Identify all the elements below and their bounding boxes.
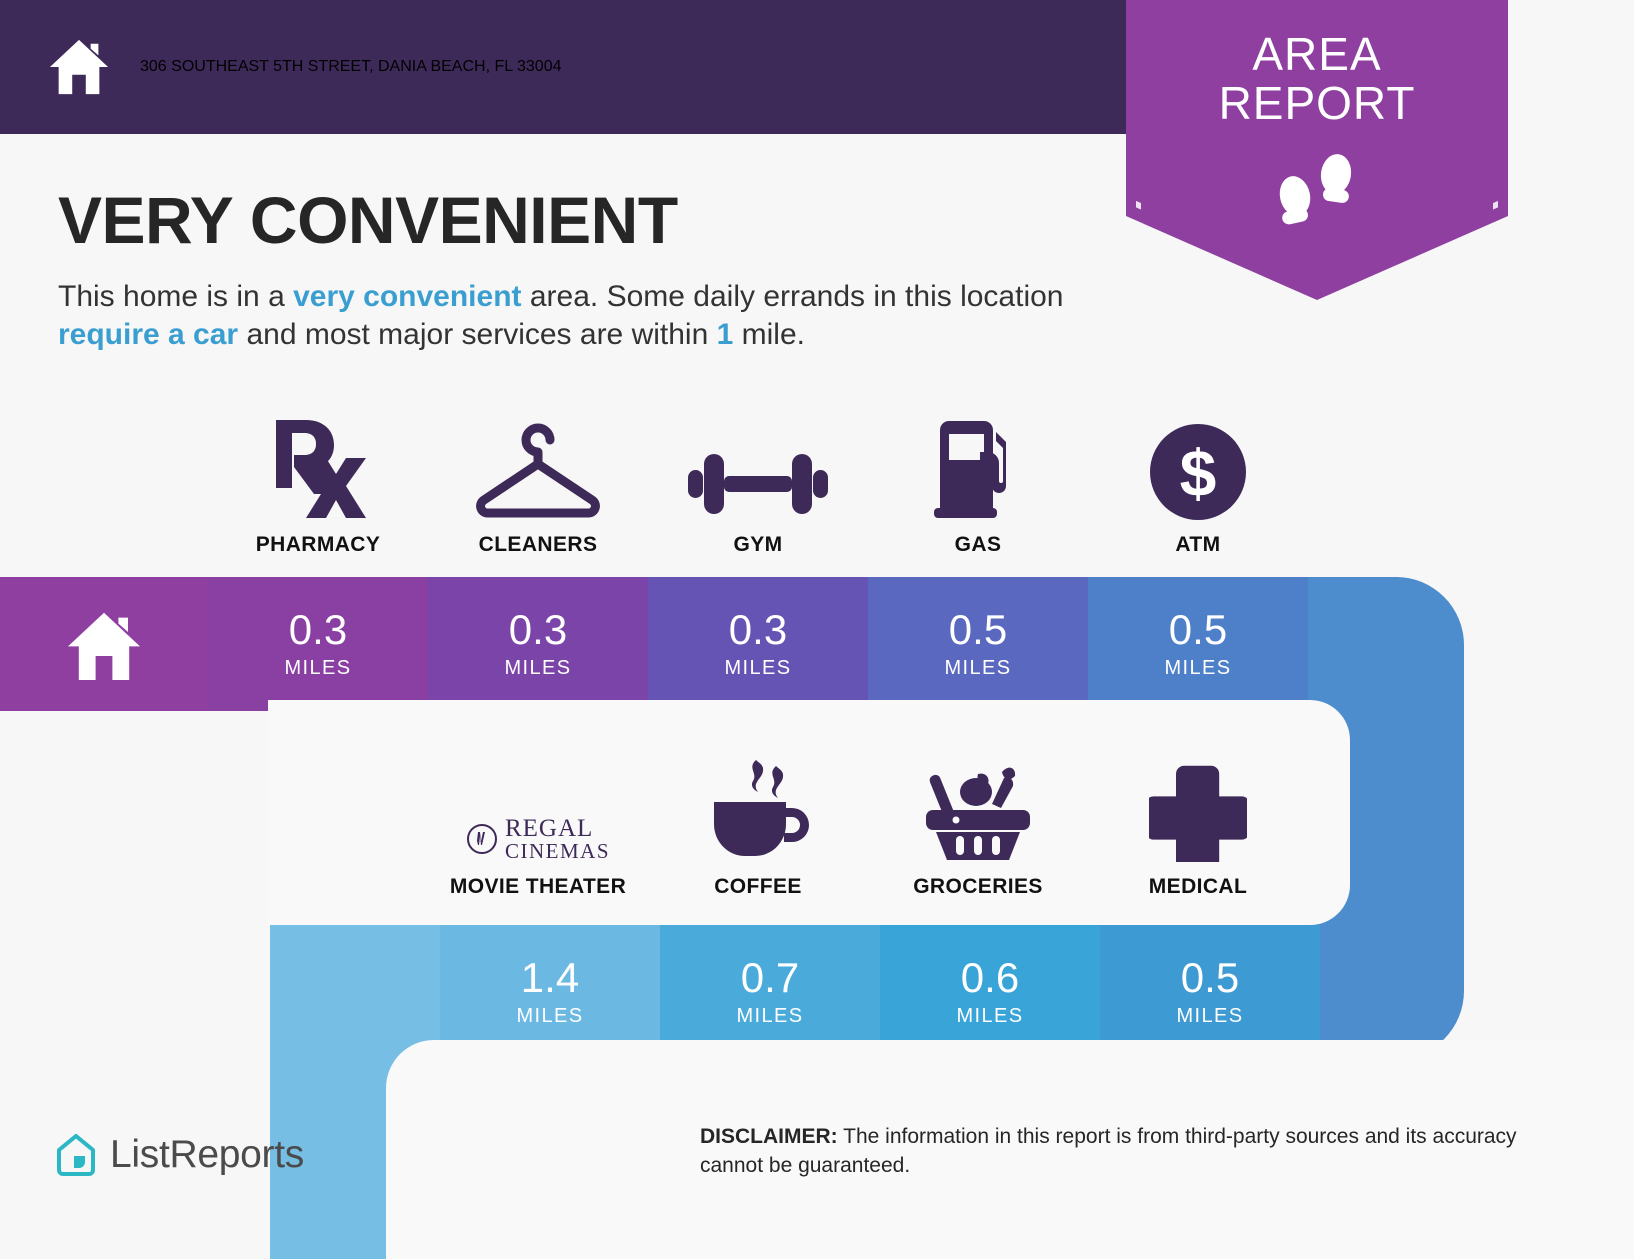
house-icon <box>48 36 110 98</box>
desc-part-4: mile. <box>733 318 805 351</box>
amenity-cleaners: CLEANERS <box>428 412 648 557</box>
disclaimer-label: DISCLAIMER: <box>700 1125 838 1148</box>
bar-spacer <box>270 925 440 1059</box>
gas-pump-icon <box>928 412 1028 520</box>
desc-part-1: This home is in a <box>58 280 293 313</box>
bar-unit: MILES <box>284 657 351 680</box>
amenity-label: GYM <box>733 533 782 557</box>
bar-home-marker <box>0 577 208 711</box>
listreports-logo-text: ListReports <box>110 1133 304 1177</box>
amenity-icon-row-primary: PHARMACY CLEANERS <box>208 412 1308 557</box>
bar-unit: MILES <box>1176 1005 1243 1028</box>
amenity-movie-theater: REGAL CINEMAS MOVIE THEATER <box>428 754 648 899</box>
bar-value: 0.6 <box>961 957 1019 999</box>
amenity-label: GAS <box>955 533 1002 557</box>
bar-segment: 0.5 MILES <box>1100 925 1320 1059</box>
amenity-gym: GYM <box>648 412 868 557</box>
bar-unit: MILES <box>724 657 791 680</box>
badge-title: AREA REPORT <box>1126 0 1508 128</box>
bar-segment: 0.3 MILES <box>428 577 648 711</box>
area-report-badge: AREA REPORT <box>1126 0 1508 300</box>
amenity-label: COFFEE <box>714 875 802 899</box>
amenity-gas: GAS <box>868 412 1088 557</box>
desc-highlight-1: very convenient <box>293 280 521 313</box>
bar-value: 0.3 <box>729 609 787 651</box>
clothes-hanger-icon <box>470 412 606 520</box>
amenity-label: MEDICAL <box>1149 875 1247 899</box>
amenity-label: ATM <box>1175 533 1220 557</box>
amenity-label: MOVIE THEATER <box>450 875 626 899</box>
bar-value: 0.5 <box>1181 957 1239 999</box>
bar-segment: 1.4 MILES <box>440 925 660 1059</box>
listreports-logo: ListReports <box>55 1133 304 1177</box>
header-address: 306 SOUTHEAST 5TH STREET, DANIA BEACH, F… <box>140 58 561 76</box>
desc-part-3: and most major services are within <box>238 318 717 351</box>
svg-text:$: $ <box>1180 436 1217 510</box>
bar-segment: 0.6 MILES <box>880 925 1100 1059</box>
bar-value: 0.5 <box>949 609 1007 651</box>
regal-line-2: CINEMAS <box>505 841 610 862</box>
bar-value: 0.7 <box>741 957 799 999</box>
amenity-atm: $ ATM <box>1088 412 1308 557</box>
bar-unit: MILES <box>1164 657 1231 680</box>
bar-segment: 0.7 MILES <box>660 925 880 1059</box>
amenity-label: CLEANERS <box>479 533 598 557</box>
grocery-basket-icon <box>918 754 1038 862</box>
bar-segment: 0.3 MILES <box>208 577 428 711</box>
amenity-pharmacy: PHARMACY <box>208 412 428 557</box>
page-title: VERY CONVENIENT <box>58 182 678 258</box>
medical-cross-icon <box>1149 754 1247 862</box>
description-text: This home is in a very convenient area. … <box>58 278 1118 355</box>
regal-line-1: REGAL <box>505 816 610 841</box>
bar-unit: MILES <box>956 1005 1023 1028</box>
bar-unit: MILES <box>736 1005 803 1028</box>
bar-segment: 0.5 MILES <box>1088 577 1308 711</box>
amenity-groceries: GROCERIES <box>868 754 1088 899</box>
bar-unit: MILES <box>504 657 571 680</box>
desc-part-2: area. Some daily errands in this locatio… <box>522 280 1064 313</box>
coffee-cup-icon <box>704 754 812 862</box>
desc-highlight-3: 1 <box>717 318 734 351</box>
disclaimer-text: DISCLAIMER: The information in this repo… <box>700 1123 1528 1181</box>
amenity-label: PHARMACY <box>256 533 381 557</box>
bar-value: 1.4 <box>521 957 579 999</box>
bar-value: 0.3 <box>509 609 567 651</box>
header-bar: 306 SOUTHEAST 5TH STREET, DANIA BEACH, F… <box>0 0 1154 134</box>
amenity-coffee: COFFEE <box>648 754 868 899</box>
badge-line-2: REPORT <box>1126 79 1508 128</box>
distance-bar-primary: 0.3 MILES 0.3 MILES 0.3 MILES 0.5 MILES … <box>0 577 1464 711</box>
badge-line-1: AREA <box>1126 30 1508 79</box>
bar-unit: MILES <box>516 1005 583 1028</box>
bar-segment: 0.5 MILES <box>868 577 1088 711</box>
amenity-medical: MEDICAL <box>1088 754 1308 899</box>
distance-bar-secondary: 1.4 MILES 0.7 MILES 0.6 MILES 0.5 MILES <box>270 925 1464 1059</box>
desc-highlight-2: require a car <box>58 318 238 351</box>
bar-value: 0.3 <box>289 609 347 651</box>
dumbbell-icon <box>688 412 828 520</box>
dollar-circle-icon: $ <box>1150 412 1246 520</box>
regal-cinemas-logo-icon: REGAL CINEMAS <box>466 754 610 862</box>
bar-segment: 0.3 MILES <box>648 577 868 711</box>
bar-value: 0.5 <box>1169 609 1227 651</box>
amenity-label: GROCERIES <box>913 875 1043 899</box>
prescription-rx-icon <box>268 412 368 520</box>
amenity-icon-row-secondary: REGAL CINEMAS MOVIE THEATER COFFEE <box>428 754 1308 899</box>
listreports-house-icon <box>55 1133 97 1177</box>
bar-unit: MILES <box>944 657 1011 680</box>
footprints-icon <box>1126 144 1508 230</box>
